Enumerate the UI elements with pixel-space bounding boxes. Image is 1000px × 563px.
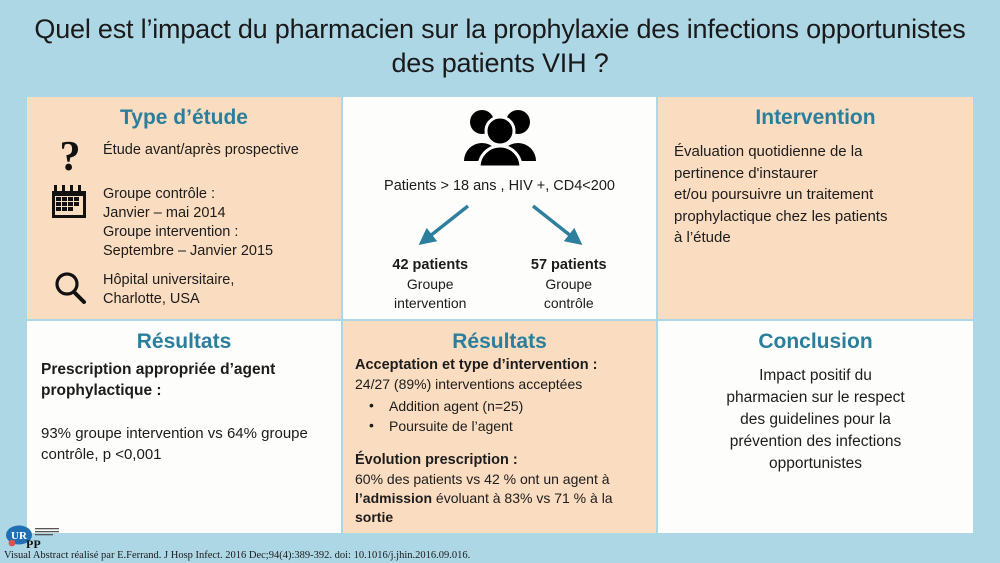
results-left-subtitle-1: Prescription appropriée d’agent [41,359,329,380]
population-criteria: Patients > 18 ans , HIV +, CD4<200 [343,178,656,194]
group-intervention: 42 patients Groupe intervention [365,256,495,313]
evolution-text: 60% des patients vs 42 % ont un agent à … [355,470,646,527]
group-intervention-line1: Groupe [407,276,454,292]
study-site-text: Hôpital universitaire, Charlotte, USA [103,269,234,309]
people-group-icon [343,97,656,172]
evolution-part-2: évoluant à 83% vs 71 % à la [432,490,613,506]
study-period-text: Groupe contrôle : Janvier – mai 2014 Gro… [103,183,273,261]
panel-results-left: Résultats Prescription appropriée d’agen… [27,321,341,533]
calendar-icon [37,183,103,223]
intervention-period-label: Groupe intervention : [103,224,238,240]
study-row-design: ? Étude avant/après prospective [27,139,341,175]
site-line-2: Charlotte, USA [103,291,200,307]
list-item: Addition agent (n=25) [355,396,646,416]
panel-intervention: Intervention Évaluation quotidienne de l… [658,97,973,319]
acceptance-bullets: Addition agent (n=25) Poursuite de l’age… [355,396,646,436]
evolution-title: Évolution prescription : [355,450,646,470]
footer: UR PP Visual Abstract réalisé par E.Ferr… [0,533,1000,563]
group-control-count: 57 patients [504,256,634,275]
results-left-body: Prescription appropriée d’agent prophyla… [27,355,341,465]
group-control: 57 patients Groupe contrôle [504,256,634,313]
intervention-line-1: Évaluation quotidienne de la [674,143,862,160]
acceptance-title: Acceptation et type d’intervention : [355,355,646,375]
study-rows: ? Étude avant/après prospective [27,139,341,317]
question-mark-icon: ? [37,139,103,175]
intervention-line-4: prophylactique chez les patients [674,208,887,225]
intervention-line-2: pertinence d'instaurer [674,165,818,182]
conclusion-line-2: pharmacien sur le respect [726,389,904,406]
intervention-period-dates: Septembre – Janvier 2015 [103,243,273,259]
conclusion-body: Impact positif du pharmacien sur le resp… [658,355,973,475]
intervention-line-5: à l’étude [674,229,731,246]
study-design-text: Étude avant/après prospective [103,139,299,160]
results-left-subtitle-2: prophylactique : [41,380,329,401]
citation-text: Visual Abstract réalisé par E.Ferrand. J… [4,550,470,561]
panel-conclusion: Conclusion Impact positif du pharmacien … [658,321,973,533]
flow-arrows [343,198,656,254]
study-row-period: Groupe contrôle : Janvier – mai 2014 Gro… [27,183,341,261]
group-control-line1: Groupe [545,276,592,292]
panel-results-center: Résultats Acceptation et type d’interven… [343,321,656,533]
study-row-site: Hôpital universitaire, Charlotte, USA [27,269,341,309]
intervention-body: Évaluation quotidienne de la pertinence … [658,131,973,249]
results-center-body: Acceptation et type d’intervention : 24/… [343,355,656,527]
acceptance-line: 24/27 (89%) interventions acceptées [355,375,646,394]
page-title: Quel est l’impact du pharmacien sur la p… [30,12,970,80]
svg-text:PP: PP [26,537,41,549]
evolution-bold-sortie: sortie [355,509,393,525]
results-left-detail-1: 93% groupe intervention vs 64% groupe [41,423,329,444]
control-period-label: Groupe contrôle : [103,186,215,202]
evolution-part-1: 60% des patients vs 42 % ont un agent à [355,471,610,487]
section-spacer [355,436,646,450]
conclusion-line-1: Impact positif du [759,367,872,384]
control-period-dates: Janvier – mai 2014 [103,205,226,221]
panel-population-flow: Patients > 18 ans , HIV +, CD4<200 42 pa… [343,97,656,319]
urpp-logo: UR PP [4,525,80,549]
panel-grid: Type d’étude ? Étude avant/après prospec… [27,97,973,533]
group-columns: 42 patients Groupe intervention 57 patie… [343,256,656,313]
study-type-heading: Type d’étude [27,97,341,131]
conclusion-line-4: prévention des infections [730,433,901,450]
group-intervention-line2: intervention [394,295,466,311]
results-center-heading: Résultats [343,321,656,355]
conclusion-heading: Conclusion [658,321,973,355]
group-control-line2: contrôle [544,295,594,311]
intervention-line-3: et/ou poursuivre un traitement [674,186,873,203]
results-left-heading: Résultats [27,321,341,355]
conclusion-line-3: des guidelines pour la [740,411,891,428]
conclusion-line-5: opportunistes [769,455,862,472]
list-item: Poursuite de l’agent [355,416,646,436]
evolution-bold-admission: l’admission [355,490,432,506]
intervention-heading: Intervention [658,97,973,131]
magnifier-icon [37,269,103,307]
group-intervention-count: 42 patients [365,256,495,275]
panel-study-type: Type d’étude ? Étude avant/après prospec… [27,97,341,319]
results-left-detail-2: contrôle, p <0,001 [41,444,329,465]
site-line-1: Hôpital universitaire, [103,272,234,288]
